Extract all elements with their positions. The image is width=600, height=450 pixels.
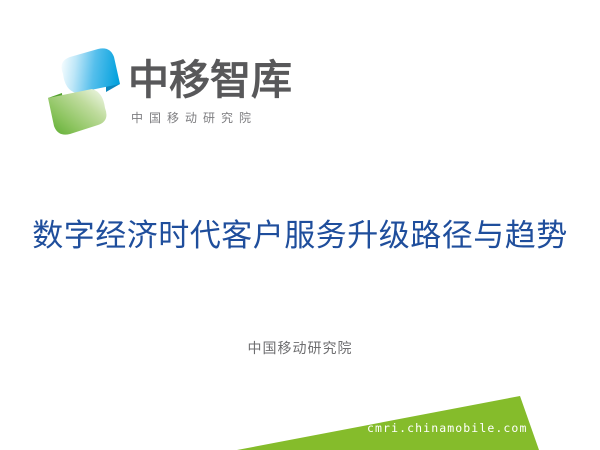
cmri-ribbon-s-mark-icon <box>36 44 132 140</box>
logo-wordmark-sub: 中国移动研究院 <box>131 112 257 124</box>
slide-title: 数字经济时代客户服务升级路径与趋势 <box>0 217 600 256</box>
title-slide: 中移智库 中国移动研究院 数字经济时代客户服务升级路径与趋势 中国移动研究院 c… <box>0 0 600 450</box>
footer-url-text: cmri.chinamobile.com <box>367 423 527 435</box>
slide-subtitle: 中国移动研究院 <box>0 341 600 355</box>
brand-logo-lockup: 中移智库 中国移动研究院 <box>36 44 326 144</box>
logo-wordmark-main: 中移智库 <box>128 60 292 101</box>
